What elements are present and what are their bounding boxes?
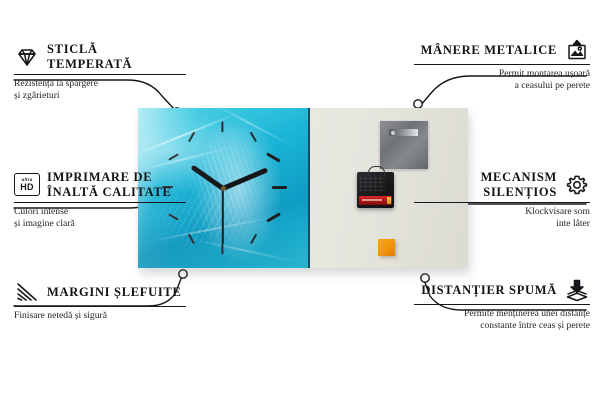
- callout-subtitle: Permite menținerea unei distanțe constan…: [414, 308, 590, 332]
- callout-head: MARGINI ȘLEFUITE: [14, 280, 186, 304]
- mechanism-texture: [360, 175, 385, 191]
- polished-edge-icon: [14, 280, 40, 304]
- callout-subtitle: Culori intense și imagine clară: [14, 206, 186, 230]
- battery: [359, 196, 392, 205]
- ultra-hd-badge-icon: ultra HD: [14, 173, 40, 197]
- callout-foam-spacer: DISTANȚIER SPUMĂ Permite menținerea unei…: [414, 278, 590, 332]
- callout-title: MECANISM SILENȚIOS: [414, 170, 557, 200]
- callout-divider: [414, 64, 590, 65]
- battery-positive-tip: [387, 197, 391, 204]
- callout-divider: [14, 74, 186, 75]
- callout-title: MARGINI ȘLEFUITE: [47, 285, 182, 300]
- callout-metal-handles: MÂNERE METALICE Permit montarea ușoară a…: [414, 38, 590, 92]
- callout-subtitle: Finisare netedă și sigură: [14, 310, 186, 322]
- callout-head: ultra HD IMPRIMARE DE ÎNALTĂ CALITATE: [14, 170, 186, 200]
- callout-subtitle: Klockvisare som inte låter: [414, 206, 590, 230]
- foam-spacer: [378, 239, 395, 256]
- metal-hanger-plate: [380, 121, 428, 169]
- callout-divider: [414, 202, 590, 203]
- callout-head: DISTANȚIER SPUMĂ: [414, 278, 590, 302]
- hanging-picture-icon: [564, 38, 590, 62]
- press-down-layer-icon: [564, 278, 590, 302]
- callout-divider: [414, 304, 590, 305]
- product-infographic: STICLĂ TEMPERATĂ Rezistență la spargere …: [0, 0, 600, 400]
- callout-title: IMPRIMARE DE ÎNALTĂ CALITATE: [47, 170, 186, 200]
- diamond-icon: [14, 45, 40, 69]
- callout-head: MECANISM SILENȚIOS: [414, 170, 590, 200]
- callout-title: DISTANȚIER SPUMĂ: [421, 283, 557, 298]
- gear-icon: [564, 173, 590, 197]
- callout-head: MÂNERE METALICE: [414, 38, 590, 62]
- callout-divider: [14, 306, 186, 307]
- callout-subtitle: Rezistență la spargere și zgârieturi: [14, 78, 186, 102]
- callout-divider: [14, 202, 186, 203]
- hd-badge-main-label: HD: [20, 183, 33, 192]
- callout-title: STICLĂ TEMPERATĂ: [47, 42, 186, 72]
- callout-silent-mechanism: MECANISM SILENȚIOS Klockvisare som inte …: [414, 170, 590, 230]
- clock-mechanism: [357, 172, 394, 208]
- callout-subtitle: Permit montarea ușoară a ceasului pe per…: [414, 68, 590, 92]
- callout-title: MÂNERE METALICE: [421, 43, 557, 58]
- hanger-screw: [391, 131, 395, 135]
- battery-label: [362, 199, 382, 201]
- callout-polished-edges: MARGINI ȘLEFUITE Finisare netedă și sigu…: [14, 280, 186, 322]
- callout-tempered-glass: STICLĂ TEMPERATĂ Rezistență la spargere …: [14, 42, 186, 102]
- leader-dot-handles: [414, 100, 422, 108]
- callout-head: STICLĂ TEMPERATĂ: [14, 42, 186, 72]
- callout-high-quality-print: ultra HD IMPRIMARE DE ÎNALTĂ CALITATE Cu…: [14, 170, 186, 230]
